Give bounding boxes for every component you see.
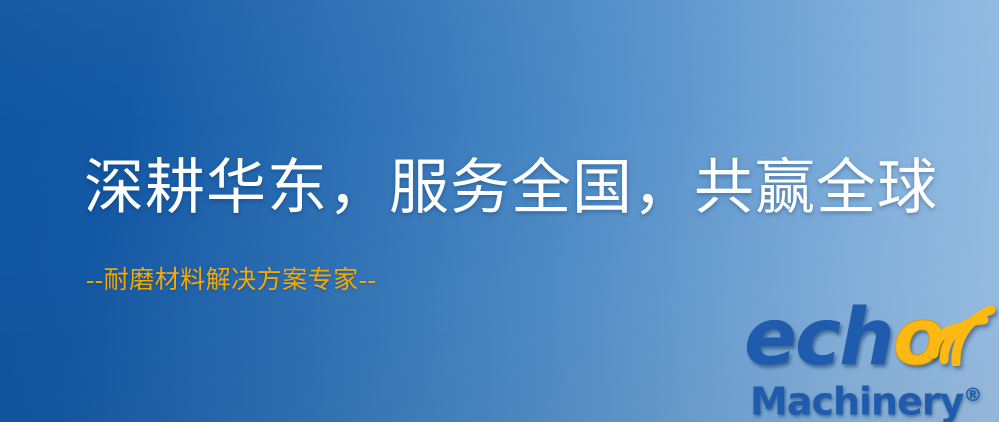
banner-subtitle: --耐磨材料解决方案专家-- bbox=[86, 266, 376, 296]
registered-trademark-icon: ® bbox=[963, 384, 982, 406]
hero-banner: 深耕华东，服务全国，共赢全球 --耐磨材料解决方案专家-- echo Machi… bbox=[0, 0, 999, 422]
logo-wordmark: echo bbox=[744, 296, 944, 380]
logo-word-ech: ech bbox=[744, 293, 893, 383]
logo-tagline-text: Machinery bbox=[750, 380, 963, 422]
echo-machinery-logo[interactable]: echo Machinery® bbox=[744, 296, 994, 420]
wifi-signal-arcs bbox=[918, 288, 996, 366]
logo-tagline: Machinery® bbox=[750, 375, 982, 422]
banner-headline: 深耕华东，服务全国，共赢全球 bbox=[84, 152, 938, 224]
